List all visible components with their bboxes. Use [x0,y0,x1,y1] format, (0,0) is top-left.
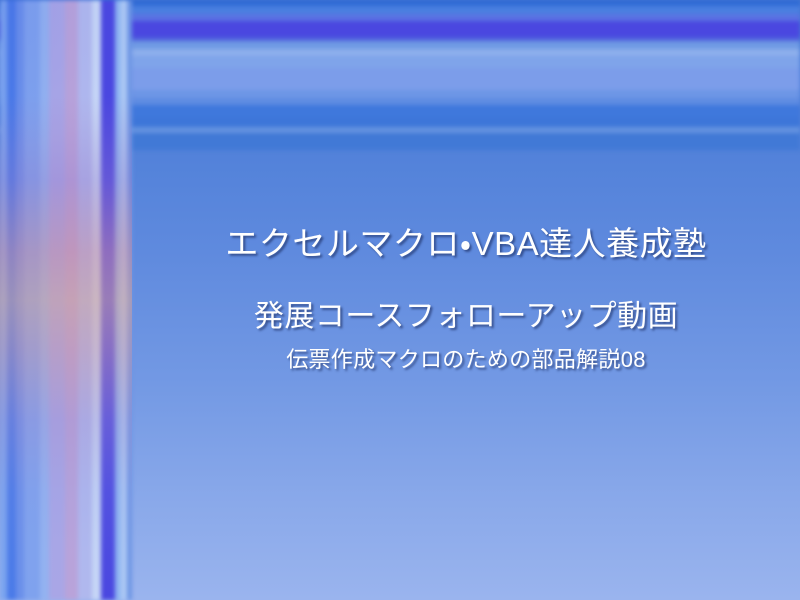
left-frame-band [49,0,65,600]
left-frame-band [24,0,40,600]
slide-title-subtitle: 発展コースフォローアップ動画 [132,298,800,336]
left-frame-band [65,0,78,600]
left-frame-bands [0,0,132,600]
left-frame-band [40,0,49,600]
slide-text-block: エクセルマクロ・VBA達人養成塾 発展コースフォローアップ動画 伝票作成マクロの… [132,132,800,600]
left-frame-band [0,0,7,600]
left-frame-band [7,0,16,600]
left-frame-band [16,0,24,600]
left-frame-band [78,0,92,600]
slide-title-main: エクセルマクロ・VBA達人養成塾 [132,224,800,264]
slide-title-note: 伝票作成マクロのための部品解説08 [132,345,800,375]
title-slide: エクセルマクロ・VBA達人養成塾 発展コースフォローアップ動画 伝票作成マクロの… [0,0,800,600]
left-frame-band [92,0,101,600]
left-frame-band [101,0,115,600]
